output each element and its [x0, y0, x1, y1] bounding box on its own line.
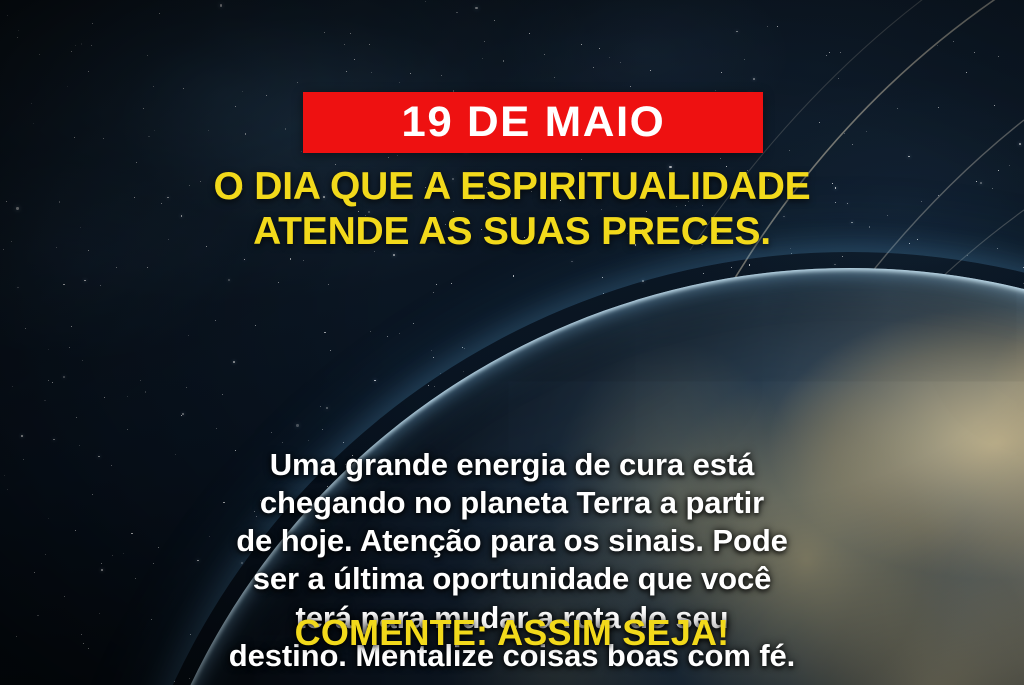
date-banner: 19 DE MAIO	[303, 92, 763, 153]
headline-line-2: ATENDE AS SUAS PRECES.	[40, 209, 984, 254]
call-to-action: COMENTE: ASSIM SEJA!	[0, 613, 1024, 653]
cta-text: COMENTE: ASSIM SEJA!	[295, 612, 730, 653]
headline-line-1: O DIA QUE A ESPIRITUALIDADE	[40, 164, 984, 209]
body-line-4: ser a última oportunidade que você	[46, 560, 978, 598]
date-banner-text: 19 DE MAIO	[401, 101, 665, 144]
body-line-1: Uma grande energia de cura está	[46, 446, 978, 484]
poster-content: 19 DE MAIO O DIA QUE A ESPIRITUALIDADE A…	[0, 0, 1024, 685]
body-line-2: chegando no planeta Terra a partir	[46, 484, 978, 522]
headline: O DIA QUE A ESPIRITUALIDADE ATENDE AS SU…	[0, 164, 1024, 254]
poster-canvas: 19 DE MAIO O DIA QUE A ESPIRITUALIDADE A…	[0, 0, 1024, 685]
body-line-3: de hoje. Atenção para os sinais. Pode	[46, 522, 978, 560]
